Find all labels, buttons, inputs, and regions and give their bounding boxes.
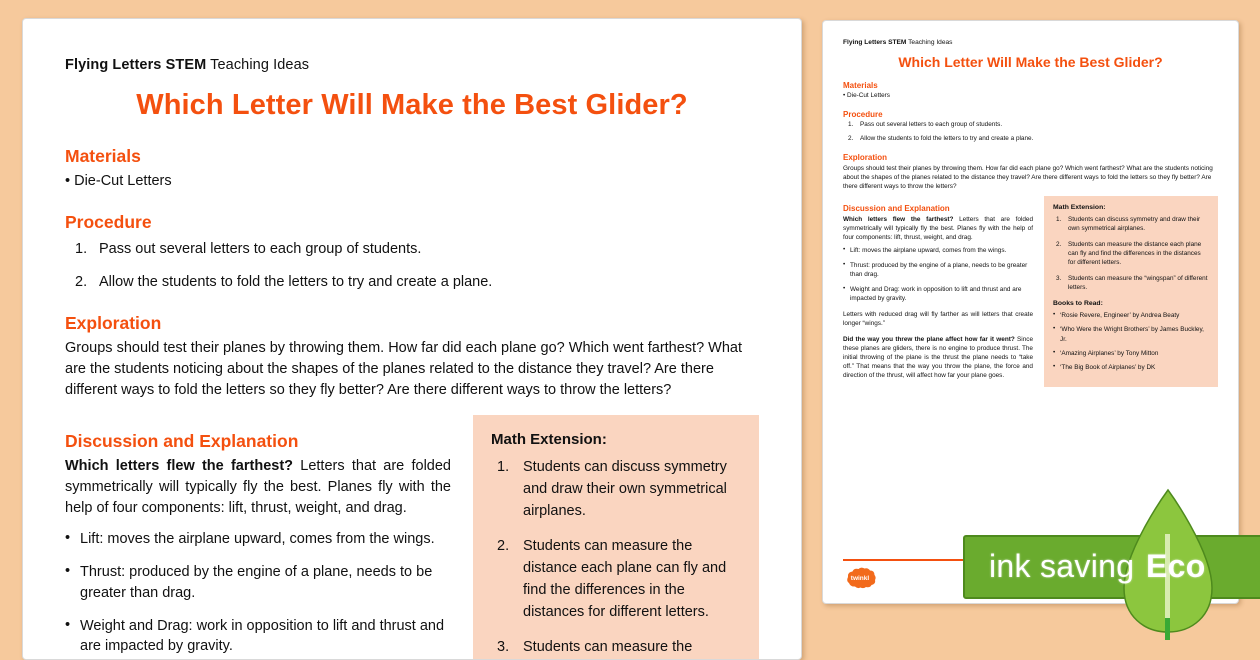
- math-extension-list: 1. Students can discuss symmetry and dra…: [491, 456, 741, 660]
- document-page-main: Flying Letters STEM Teaching Ideas Which…: [22, 18, 802, 660]
- bullet-glyph: •: [65, 615, 70, 635]
- page-title: Which Letter Will Make the Best Glider?: [65, 89, 759, 122]
- screenshot-stage: Flying Letters STEM Teaching Ideas Which…: [0, 0, 1260, 630]
- list-item-text: Thrust: produced by the engine of a plan…: [80, 564, 432, 600]
- ink-saving-eco-badge: ink saving Eco: [963, 535, 1260, 595]
- bullet-glyph: •: [65, 173, 70, 189]
- list-item: • ‘Rosie Revere, Engineer’ by Andrea Bea…: [1053, 311, 1209, 320]
- heading-materials: Materials: [65, 146, 759, 167]
- preview-sidebar-column: Math Extension: 1. Students can discuss …: [1044, 195, 1218, 386]
- preview-discussion-column: Discussion and Explanation Which letters…: [843, 195, 1033, 386]
- preview-materials-item-text: Die-Cut Letters: [847, 92, 890, 99]
- preview-heading-books-to-read: Books to Read:: [1053, 300, 1209, 307]
- bullet-glyph: •: [65, 561, 70, 581]
- preview-discussion-closing: Letters with reduced drag will fly farth…: [843, 310, 1033, 328]
- bullet-glyph: •: [1053, 310, 1055, 319]
- list-number: 1.: [848, 121, 853, 130]
- eco-badge-eco-label: Eco: [1146, 548, 1206, 585]
- preview-kicker-rest-text: Teaching Ideas: [906, 39, 952, 46]
- discussion-column: Discussion and Explanation Which letters…: [65, 411, 451, 660]
- heading-exploration: Exploration: [65, 313, 759, 334]
- discussion-question-1: Which letters flew the farthest?: [65, 458, 293, 474]
- list-item: 1. Pass out several letters to each grou…: [843, 121, 1218, 130]
- preview-two-column-area: Discussion and Explanation Which letters…: [843, 195, 1218, 386]
- svg-text:twinkl: twinkl: [851, 575, 870, 582]
- list-number: 3.: [1056, 274, 1061, 283]
- list-number: 2.: [1056, 240, 1061, 249]
- list-item: 2. Allow the students to fold the letter…: [843, 135, 1218, 144]
- preview-heading-materials: Materials: [843, 81, 1218, 90]
- list-item: • Weight and Drag: work in opposition to…: [65, 616, 451, 657]
- twinkl-logo: twinkl: [843, 567, 877, 589]
- sidebar-column: Math Extension: 1. Students can discuss …: [473, 411, 759, 660]
- list-item: 2. Students can measure the distance eac…: [491, 535, 741, 623]
- bullet-glyph: •: [65, 528, 70, 548]
- list-item: • Lift: moves the airplane upward, comes…: [65, 529, 451, 549]
- preview-kicker: Flying Letters STEM Teaching Ideas: [843, 39, 1218, 46]
- preview-materials-item: • Die-Cut Letters: [843, 92, 1218, 101]
- list-item: 3. Students can measure the “wingspan” o…: [491, 636, 741, 660]
- math-extension-box: Math Extension: 1. Students can discuss …: [473, 415, 759, 660]
- list-item-text: Allow the students to fold the letters t…: [99, 274, 492, 290]
- list-number: 2.: [75, 272, 87, 293]
- list-item: • Lift: moves the airplane upward, comes…: [843, 247, 1033, 256]
- list-item: 2. Allow the students to fold the letter…: [65, 272, 759, 293]
- list-item: • ‘Amazing Airplanes’ by Tony Mitton: [1053, 349, 1209, 358]
- list-item: • Weight and Drag: work in opposition to…: [843, 286, 1033, 304]
- list-item-text: Students can discuss symmetry and draw t…: [523, 459, 727, 519]
- list-number: 2.: [848, 135, 853, 144]
- bullet-glyph: •: [843, 246, 845, 255]
- list-item-text: Weight and Drag: work in opposition to l…: [80, 618, 444, 654]
- page-kicker: Flying Letters STEM Teaching Ideas: [65, 57, 759, 73]
- eco-badge-label: ink saving: [989, 548, 1134, 585]
- list-item-text: ‘Rosie Revere, Engineer’ by Andrea Beaty: [1060, 312, 1179, 319]
- list-item-text: Students can measure the distance each p…: [1068, 241, 1201, 267]
- preview-discussion-question-2: Did the way you threw the plane affect h…: [843, 336, 1015, 343]
- list-item: 2. Students can measure the distance eac…: [1053, 240, 1209, 268]
- list-item-text: Pass out several letters to each group o…: [99, 241, 421, 257]
- bullet-glyph: •: [843, 261, 845, 270]
- list-item-text: Allow the students to fold the letters t…: [860, 135, 1033, 142]
- list-item: • ‘Who Were the Wright Brothers’ by Jame…: [1053, 325, 1209, 344]
- list-item-text: ‘Amazing Airplanes’ by Tony Mitton: [1060, 350, 1158, 357]
- list-item-text: ‘Who Were the Wright Brothers’ by James …: [1060, 326, 1204, 342]
- kicker-rest-text: Teaching Ideas: [206, 57, 309, 73]
- preview-discussion-question-1: Which letters flew the farthest?: [843, 216, 953, 223]
- list-item: 1. Pass out several letters to each grou…: [65, 239, 759, 260]
- heading-discussion: Discussion and Explanation: [65, 431, 451, 452]
- list-number: 1.: [75, 239, 87, 260]
- preview-discussion-paragraph-1: Which letters flew the farthest? Letters…: [843, 215, 1033, 242]
- preview-procedure-list: 1. Pass out several letters to each grou…: [843, 121, 1218, 144]
- preview-discussion-paragraph-2: Did the way you threw the plane affect h…: [843, 335, 1033, 380]
- list-item-text: ‘The Big Book of Airplanes’ by DK: [1060, 364, 1155, 371]
- bullet-glyph: •: [843, 92, 845, 99]
- list-item-text: Students can measure the “wingspan” of d…: [1068, 275, 1208, 291]
- list-item-text: Pass out several letters to each group o…: [860, 121, 1002, 128]
- list-item: 1. Students can discuss symmetry and dra…: [491, 456, 741, 522]
- preview-heading-discussion: Discussion and Explanation: [843, 204, 1033, 213]
- list-number: 1.: [497, 456, 509, 478]
- list-item-text: Lift: moves the airplane upward, comes f…: [80, 531, 435, 547]
- list-item: 1. Students can discuss symmetry and dra…: [1053, 215, 1209, 234]
- list-item: • Thrust: produced by the engine of a pl…: [65, 562, 451, 603]
- preview-math-extension-list: 1. Students can discuss symmetry and dra…: [1053, 215, 1209, 292]
- preview-heading-math-extension: Math Extension:: [1053, 204, 1209, 211]
- discussion-paragraph-1: Which letters flew the farthest? Letters…: [65, 456, 451, 519]
- bullet-glyph: •: [1053, 348, 1055, 357]
- preview-title: Which Letter Will Make the Best Glider?: [843, 54, 1218, 70]
- heading-procedure: Procedure: [65, 212, 759, 233]
- exploration-body: Groups should test their planes by throw…: [65, 338, 759, 401]
- list-number: 2.: [497, 535, 509, 557]
- kicker-bold-text: Flying Letters STEM: [65, 57, 206, 73]
- list-item: 3. Students can measure the “wingspan” o…: [1053, 274, 1209, 293]
- list-item-text: Thrust: produced by the engine of a plan…: [850, 262, 1027, 278]
- list-item-text: Weight and Drag: work in opposition to l…: [850, 286, 1021, 302]
- list-number: 1.: [1056, 215, 1061, 224]
- preview-books-list: • ‘Rosie Revere, Engineer’ by Andrea Bea…: [1053, 311, 1209, 372]
- bullet-glyph: •: [843, 285, 845, 294]
- bullet-glyph: •: [1053, 324, 1055, 333]
- preview-heading-exploration: Exploration: [843, 153, 1218, 162]
- preview-heading-procedure: Procedure: [843, 110, 1218, 119]
- list-item-text: Lift: moves the airplane upward, comes f…: [850, 247, 1006, 254]
- materials-item: • Die-Cut Letters: [65, 171, 759, 192]
- preview-components-list: • Lift: moves the airplane upward, comes…: [843, 247, 1033, 303]
- preview-exploration-body: Groups should test their planes by throw…: [843, 164, 1218, 191]
- preview-kicker-bold-text: Flying Letters STEM: [843, 39, 906, 46]
- list-item-text: Students can measure the distance each p…: [523, 538, 726, 620]
- procedure-list: 1. Pass out several letters to each grou…: [65, 239, 759, 293]
- components-list: • Lift: moves the airplane upward, comes…: [65, 529, 451, 656]
- heading-math-extension: Math Extension:: [491, 431, 741, 448]
- two-column-area: Discussion and Explanation Which letters…: [65, 411, 759, 660]
- list-item-text: Students can discuss symmetry and draw t…: [1068, 216, 1200, 232]
- list-item: • ‘The Big Book of Airplanes’ by DK: [1053, 363, 1209, 372]
- preview-math-extension-box: Math Extension: 1. Students can discuss …: [1044, 196, 1218, 386]
- list-item-text: Students can measure the “wingspan” of d…: [523, 639, 714, 660]
- list-item: • Thrust: produced by the engine of a pl…: [843, 262, 1033, 280]
- bullet-glyph: •: [1053, 362, 1055, 371]
- list-number: 3.: [497, 636, 509, 658]
- materials-item-text: Die-Cut Letters: [74, 173, 172, 189]
